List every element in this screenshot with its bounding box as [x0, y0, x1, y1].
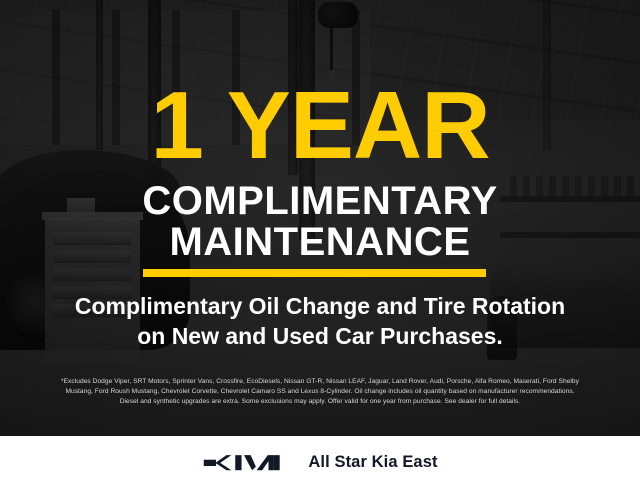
headline-primary: 1 YEAR [0, 78, 640, 174]
headline-secondary-line1: COMPLIMENTARY [142, 179, 497, 223]
disclaimer-text: *Excludes Dodge Viper, SRT Motors, Sprin… [14, 377, 626, 408]
disclaimer-line-2: Mustang, Ford Roush Mustang, Chevrolet C… [14, 387, 626, 397]
dealer-branding: All Star Kia East [202, 452, 437, 473]
offer-subcopy-line2: on New and Used Car Purchases. [0, 321, 640, 351]
offer-subcopy: Complimentary Oil Change and Tire Rotati… [0, 291, 640, 351]
disclaimer-line-3: Diesel and synthetic upgrades are extra.… [14, 397, 626, 407]
hero-text-content: 1 YEAR COMPLIMENTARY MAINTENANCE Complim… [0, 0, 640, 436]
headline-secondary-line2: MAINTENANCE [0, 222, 640, 263]
dealer-name-label: All Star Kia East [308, 453, 437, 472]
offer-subcopy-line1: Complimentary Oil Change and Tire Rotati… [0, 291, 640, 321]
headline-secondary: COMPLIMENTARY MAINTENANCE [0, 181, 640, 263]
kia-logo-icon [202, 452, 286, 473]
accent-divider-bar [143, 269, 486, 277]
footer-bar: All Star Kia East [0, 436, 640, 488]
promotional-banner: 1 YEAR COMPLIMENTARY MAINTENANCE Complim… [0, 0, 640, 488]
disclaimer-line-1: *Excludes Dodge Viper, SRT Motors, Sprin… [14, 377, 626, 387]
hero-image-area: 1 YEAR COMPLIMENTARY MAINTENANCE Complim… [0, 0, 640, 436]
